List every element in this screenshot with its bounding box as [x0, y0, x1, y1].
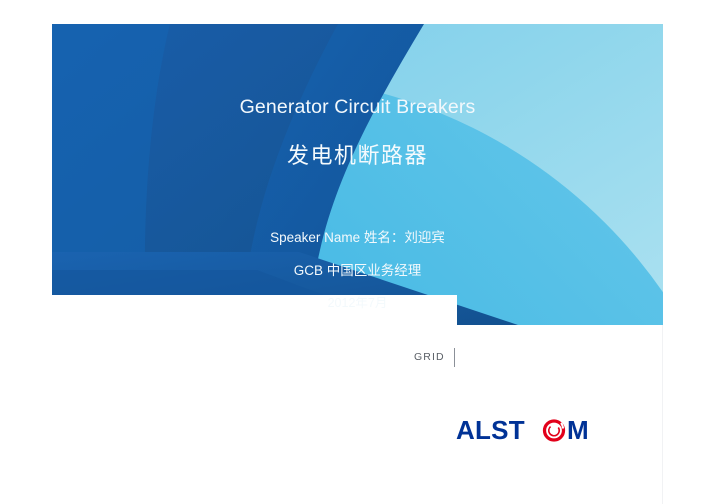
grid-business-mark: GRID	[414, 347, 455, 367]
svg-text:M: M	[567, 415, 589, 445]
banner-artwork	[52, 24, 663, 325]
title-banner: Generator Circuit Breakers 发电机断路器 Speake…	[52, 24, 663, 325]
presentation-slide: Generator Circuit Breakers 发电机断路器 Speake…	[0, 0, 713, 504]
alstom-o-swoosh-icon	[545, 421, 564, 440]
grid-label: GRID	[414, 351, 445, 363]
svg-text:ALST: ALST	[456, 415, 525, 445]
grid-divider-bar	[454, 348, 455, 367]
alstom-logo: ALST M	[456, 415, 601, 449]
alstom-wordmark-icon: ALST M	[456, 415, 601, 447]
